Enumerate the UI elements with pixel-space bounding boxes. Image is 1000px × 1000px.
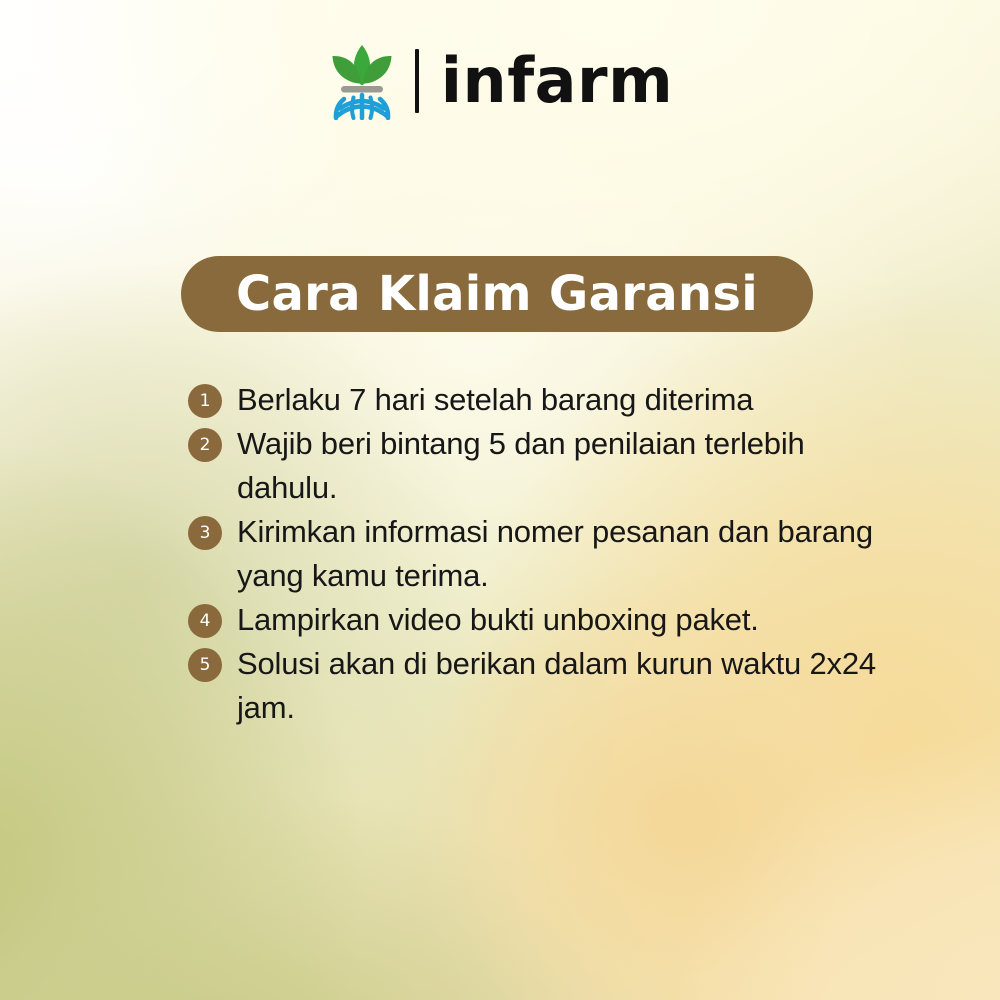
step-text: Wajib beri bintang 5 dan penilaian terle… xyxy=(237,422,888,510)
steps-list: 1 Berlaku 7 hari setelah barang diterima… xyxy=(188,378,888,730)
step-text: Lampirkan video bukti unboxing paket. xyxy=(237,598,888,642)
list-item: 5 Solusi akan di berikan dalam kurun wak… xyxy=(188,642,888,730)
soil-bar xyxy=(341,86,383,93)
step-text: Solusi akan di berikan dalam kurun waktu… xyxy=(237,642,888,730)
step-number-badge: 1 xyxy=(188,384,222,418)
list-item: 2 Wajib beri bintang 5 dan penilaian ter… xyxy=(188,422,888,510)
brand-wordmark: infarm xyxy=(441,50,673,112)
brand-header: infarm xyxy=(0,42,1000,120)
poster-content: infarm Cara Klaim Garansi 1 Berlaku 7 ha… xyxy=(0,0,1000,1000)
poster-canvas: infarm Cara Klaim Garansi 1 Berlaku 7 ha… xyxy=(0,0,1000,1000)
list-item: 4 Lampirkan video bukti unboxing paket. xyxy=(188,598,888,642)
list-item: 1 Berlaku 7 hari setelah barang diterima xyxy=(188,378,888,422)
title-banner: Cara Klaim Garansi xyxy=(181,256,813,332)
step-number-badge: 5 xyxy=(188,648,222,682)
step-number-badge: 3 xyxy=(188,516,222,550)
step-number-badge: 4 xyxy=(188,604,222,638)
page-title: Cara Klaim Garansi xyxy=(236,270,758,318)
step-number-badge: 2 xyxy=(188,428,222,462)
step-text: Kirimkan informasi nomer pesanan dan bar… xyxy=(237,510,888,598)
infarm-plant-wifi-logo-icon xyxy=(327,42,397,120)
list-item: 3 Kirimkan informasi nomer pesanan dan b… xyxy=(188,510,888,598)
vertical-divider-icon xyxy=(415,49,419,113)
step-text: Berlaku 7 hari setelah barang diterima xyxy=(237,378,888,422)
